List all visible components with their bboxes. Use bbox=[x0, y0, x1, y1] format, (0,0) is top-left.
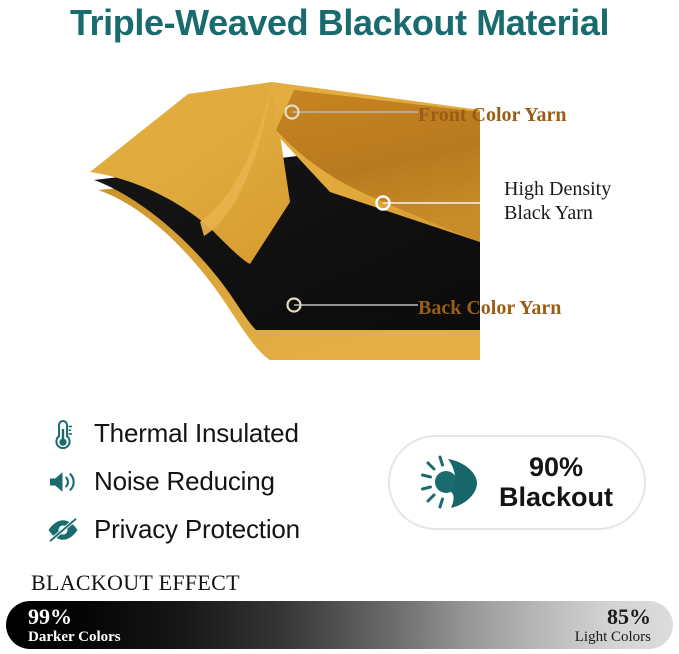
thermometer-icon bbox=[46, 417, 80, 451]
eye-slash-icon bbox=[46, 513, 80, 547]
badge-label: Blackout bbox=[499, 482, 613, 512]
badge-text: 90% Blackout bbox=[499, 453, 613, 511]
callout-label-front-color-yarn: Front Color Yarn bbox=[418, 104, 567, 128]
bar-stat-light-colors: 85% Light Colors bbox=[575, 606, 651, 645]
infographic-page: Triple-Weaved Blackout Material bbox=[0, 0, 679, 654]
bar-stat-light-caption: Light Colors bbox=[575, 630, 651, 645]
blackout-effect-gradient-bar: 99% Darker Colors 85% Light Colors bbox=[6, 601, 673, 649]
bar-stat-darker-colors: 99% Darker Colors bbox=[28, 606, 121, 645]
feature-label-thermal-insulated: Thermal Insulated bbox=[94, 418, 299, 449]
feature-item-thermal-insulated: Thermal Insulated bbox=[46, 412, 366, 455]
callout-label-middle-line2: Black Yarn bbox=[504, 202, 611, 226]
feature-label-noise-reducing: Noise Reducing bbox=[94, 466, 275, 497]
speaker-sound-icon bbox=[46, 465, 80, 499]
callout-label-back-color-yarn: Back Color Yarn bbox=[418, 297, 561, 321]
feature-list: Thermal Insulated Noise Reducing bbox=[46, 412, 366, 556]
bar-stat-darker-value: 99% bbox=[28, 606, 121, 628]
feature-label-privacy-protection: Privacy Protection bbox=[94, 514, 300, 545]
feature-item-noise-reducing: Noise Reducing bbox=[46, 460, 366, 503]
badge-percent: 90% bbox=[529, 452, 583, 482]
sun-blocked-by-curtain-icon bbox=[421, 452, 491, 514]
feature-item-privacy-protection: Privacy Protection bbox=[46, 508, 366, 551]
callout-label-high-density-black-yarn: High Density Black Yarn bbox=[504, 178, 611, 225]
blackout-effect-heading: BLACKOUT EFFECT bbox=[31, 570, 240, 596]
bar-stat-darker-caption: Darker Colors bbox=[28, 630, 121, 645]
callout-label-middle-line1: High Density bbox=[504, 178, 611, 202]
bar-stat-light-value: 85% bbox=[575, 606, 651, 628]
page-title: Triple-Weaved Blackout Material bbox=[0, 2, 679, 44]
blackout-percentage-badge: 90% Blackout bbox=[388, 435, 646, 530]
